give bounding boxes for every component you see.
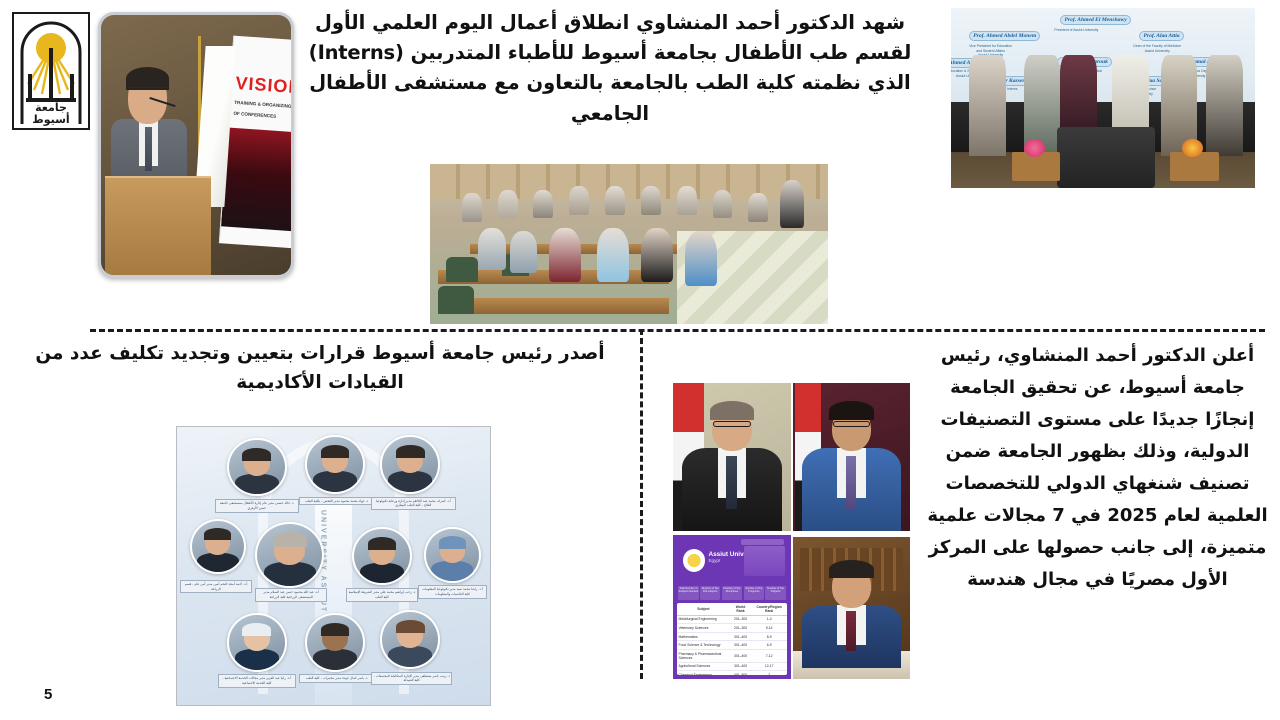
ranking-stat-1: Number of Top Subjects bbox=[765, 586, 785, 600]
ranking-university-seal-icon bbox=[683, 549, 705, 572]
table-row: Agricultural Sciences301–40012-17 bbox=[677, 662, 788, 671]
table-row: Pharmacy & Pharmaceutical Sciences301–40… bbox=[677, 650, 788, 663]
cell-subject: Mathematics bbox=[677, 632, 731, 641]
cell-country-rank: 2 bbox=[751, 671, 788, 675]
col-world-rank: World Rank bbox=[730, 603, 751, 616]
table-row: Chemical Engineering401–5002 bbox=[677, 671, 788, 675]
col-country-rank: Country/Region Rank bbox=[751, 603, 788, 616]
cell-subject: Chemical Engineering bbox=[677, 671, 731, 675]
bottom-left-news-headline: أصدر رئيس جامعة أسيوط قرارات بتعيين وتجد… bbox=[20, 340, 620, 397]
panel-session-photo: Prof. Ahmed El Menshawy President of Ass… bbox=[951, 8, 1255, 188]
official-portrait-1-photo bbox=[673, 383, 791, 531]
vision-subtitle-line2: OF CONFERENCES bbox=[234, 111, 277, 119]
leader-caption-9: د. ياسر كمال جودة مدير مختبرات - كلية ال… bbox=[299, 674, 374, 683]
leader-caption-10: د. زينب ناصر مصطفى مدير الإدارة المتكامل… bbox=[371, 672, 452, 685]
panel-tag-1: Prof. Ahmed Abdel Monem bbox=[969, 31, 1040, 41]
cell-country-rank: 1-4 bbox=[751, 615, 788, 624]
cell-world-rank: 201–300 bbox=[730, 615, 751, 624]
leader-caption-7: أ.د. راشا محمد سيد مدير تكنولوجيا المعلو… bbox=[418, 585, 487, 598]
horizontal-dashed-divider bbox=[90, 329, 1265, 332]
academic-leaders-collage-photo: UNIVERSITY ASSIUT د. خالد حسني مدير عام … bbox=[176, 426, 491, 706]
vertical-dashed-divider bbox=[640, 329, 643, 679]
cell-subject: Food Science & Technology bbox=[677, 641, 731, 650]
ranking-university-country: Egypt bbox=[708, 558, 720, 563]
leader-caption-4: أ.د. أحمد أمجد النجم أمين مدير أمن عام -… bbox=[180, 580, 252, 593]
leader-caption-6: د. رجب إبراهيم محمد علي مدير الشريعة الإ… bbox=[346, 588, 418, 601]
leader-caption-3: أ.د. أشرف محمد عبد الكاظم مدير إدارة ورع… bbox=[371, 497, 456, 510]
cell-country-rank: 12-17 bbox=[751, 662, 788, 671]
newsletter-slide: جامعة أسيوط شهد الدكتور أحمد المنشاوي ان… bbox=[0, 0, 1280, 720]
ranking-subjects-table: Subject World Rank Country/Region Rank M… bbox=[677, 603, 788, 675]
cell-world-rank: 401–500 bbox=[730, 671, 751, 675]
cell-world-rank: 301–400 bbox=[730, 632, 751, 641]
panel-tag-2: Prof. Alaa Attia bbox=[1139, 31, 1183, 41]
logo-arabic-line2: أسيوط bbox=[32, 112, 69, 126]
leader-caption-5: أ.د. عبد الله محمود حسن عبد السلام مدير … bbox=[255, 588, 327, 601]
official-portrait-2-photo bbox=[793, 383, 910, 531]
page-number: 5 bbox=[44, 686, 52, 703]
shanghairanking-logo bbox=[741, 539, 784, 545]
cell-country-rank: 9-14 bbox=[751, 624, 788, 633]
cell-world-rank: 301–400 bbox=[730, 662, 751, 671]
leader-caption-1: د. خالد حسني مدير عام إدارة الأطفال بمست… bbox=[215, 499, 300, 512]
vision-brand-text: VISION bbox=[235, 74, 294, 100]
assiut-university-logo: جامعة أسيوط bbox=[12, 12, 90, 130]
ranking-stat-4: Number of Top 100 subjects bbox=[700, 586, 720, 600]
panel-subtitle-2: Dean of the Faculty of MedicineAssiut Un… bbox=[1133, 44, 1181, 53]
ranking-stat-row: Number of Top Subjects Number of Top Pro… bbox=[678, 586, 786, 600]
cell-world-rank: 301–400 bbox=[730, 650, 751, 663]
panel-tag-center-top: Prof. Ahmed El Menshawy bbox=[1060, 15, 1130, 25]
table-row: Food Science & Technology301–4006-9 bbox=[677, 641, 788, 650]
cell-world-rank: 201–300 bbox=[730, 624, 751, 633]
table-row: Mathematics301–4008-9 bbox=[677, 632, 788, 641]
ranking-stat-3: Number of Top Disciplines bbox=[722, 586, 742, 600]
table-row: Metallurgical Engineering201–3001-4 bbox=[677, 615, 788, 624]
audience-lecture-hall-photo bbox=[430, 164, 828, 324]
cell-subject: Metallurgical Engineering bbox=[677, 615, 731, 624]
col-subject: Subject bbox=[677, 603, 731, 616]
table-row: Veterinary Sciences201–3009-14 bbox=[677, 624, 788, 633]
cell-country-rank: 7-12 bbox=[751, 650, 788, 663]
bottom-right-news-headline: أعلن الدكتور أحمد المنشاوي، رئيس جامعة أ… bbox=[925, 340, 1270, 596]
top-news-headline: شهد الدكتور أحمد المنشاوي انطلاق أعمال ا… bbox=[300, 8, 920, 129]
leader-caption-8: أ.د. رانيا عبد العزيز مدير مجالات الخدمة… bbox=[218, 674, 296, 687]
speaker-at-podium-photo: VISION TRAINING & ORGANIZING OF CONFEREN… bbox=[98, 12, 294, 278]
leader-caption-2: د. جهاد محمد محمود مدير الفحص - بكلية ال… bbox=[299, 497, 374, 506]
table-header-row: Subject World Rank Country/Region Rank bbox=[677, 603, 788, 616]
official-portrait-3-photo bbox=[793, 537, 910, 679]
ranking-stat-5: Total Number of Subjects Ranked bbox=[678, 586, 698, 600]
cell-subject: Agricultural Sciences bbox=[677, 662, 731, 671]
cell-country-rank: 6-9 bbox=[751, 641, 788, 650]
cell-subject: Veterinary Sciences bbox=[677, 624, 731, 633]
cell-subject: Pharmacy & Pharmaceutical Sciences bbox=[677, 650, 731, 663]
cell-country-rank: 8-9 bbox=[751, 632, 788, 641]
ranking-card-photo: Assiut University Egypt Number of Top Su… bbox=[673, 535, 791, 679]
cell-world-rank: 301–400 bbox=[730, 641, 751, 650]
panel-subtitle-center-top: President of Assiut University bbox=[1054, 28, 1098, 33]
ranking-stat-2: Number of Top Programs bbox=[744, 586, 764, 600]
vision-subtitle-line1: TRAINING & ORGANIZING bbox=[234, 101, 292, 110]
